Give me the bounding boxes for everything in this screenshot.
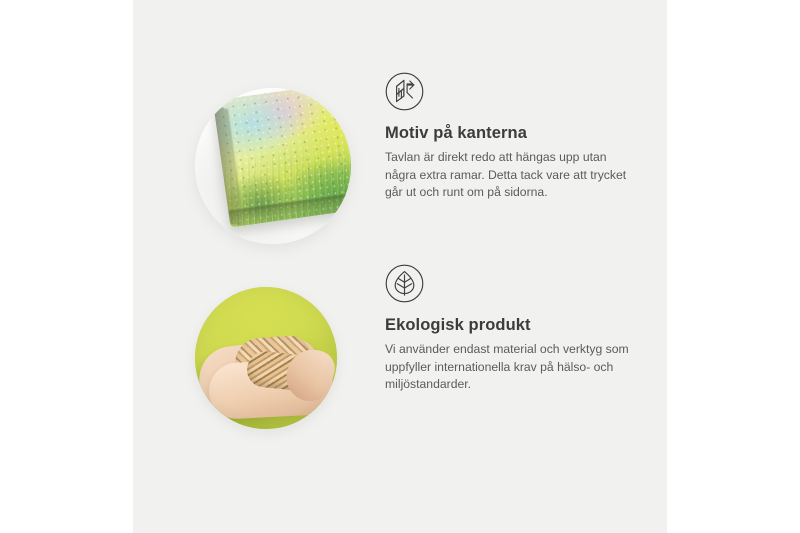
feature-text-eco: Ekologisk produkt Vi använder endast mat… (385, 264, 653, 393)
feature-description-eco: Vi använder endast material och verktyg … (385, 341, 635, 393)
feature-row-eco: Ekologisk produkt Vi använder endast mat… (133, 264, 667, 454)
feature-row-edges: Motiv på kanterna Tavlan är direkt redo … (133, 72, 667, 262)
product-feature-banner: Motiv på kanterna Tavlan är direkt redo … (0, 0, 800, 533)
feature-description-edges: Tavlan är direkt redo att hängas upp uta… (385, 149, 635, 201)
canvas-artwork (213, 88, 351, 228)
feature-title-eco: Ekologisk produkt (385, 316, 653, 335)
photo-vignette (195, 287, 337, 429)
hands-with-wood-chips-photo (195, 287, 337, 429)
canvas-corner-photo (195, 88, 351, 244)
wrapped-canvas-edge-icon (385, 72, 424, 111)
leaf-icon (385, 264, 424, 303)
content-panel: Motiv på kanterna Tavlan är direkt redo … (133, 0, 667, 533)
feature-title-edges: Motiv på kanterna (385, 124, 653, 143)
feature-text-edges: Motiv på kanterna Tavlan är direkt redo … (385, 72, 653, 201)
